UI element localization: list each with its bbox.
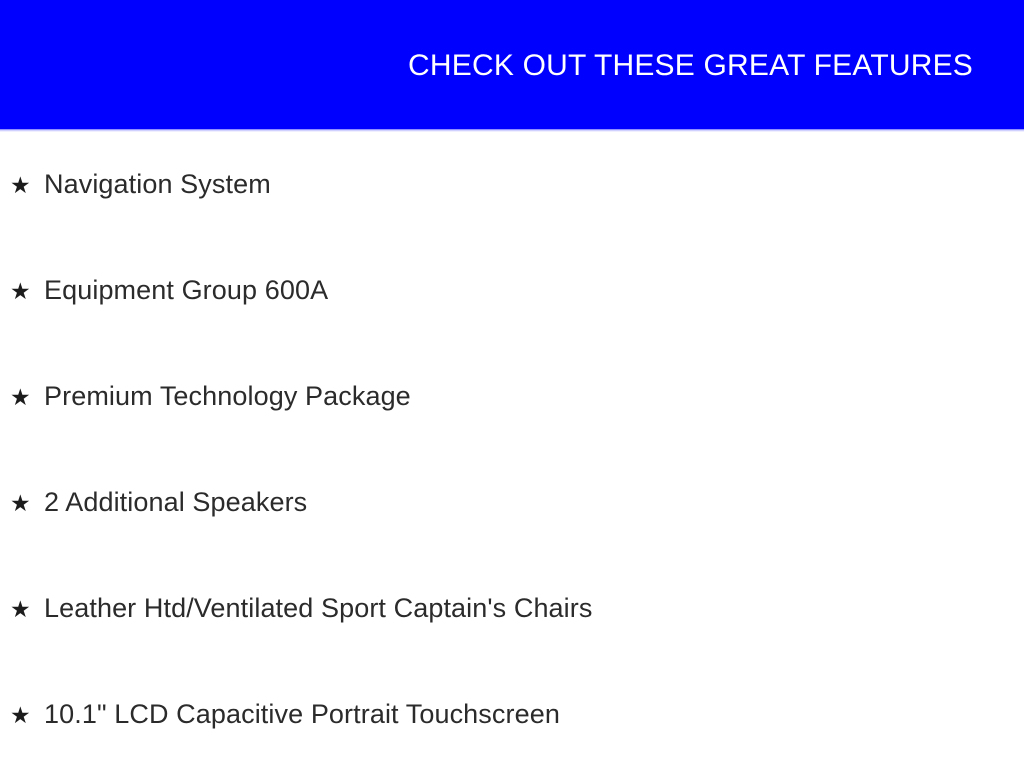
list-item: ★ Premium Technology Package <box>10 382 411 412</box>
list-item: ★ Navigation System <box>10 170 271 200</box>
star-icon: ★ <box>10 280 44 303</box>
star-icon: ★ <box>10 704 44 727</box>
page-title: CHECK OUT THESE GREAT FEATURES <box>408 51 973 81</box>
feature-label: Premium Technology Package <box>44 382 411 412</box>
star-icon: ★ <box>10 492 44 515</box>
list-item: ★ Leather Htd/Ventilated Sport Captain's… <box>10 594 592 624</box>
feature-label: Navigation System <box>44 170 271 200</box>
feature-label: Equipment Group 600A <box>44 276 328 306</box>
header-banner: CHECK OUT THESE GREAT FEATURES <box>0 0 1024 129</box>
feature-label: Leather Htd/Ventilated Sport Captain's C… <box>44 594 592 624</box>
feature-label: 10.1" LCD Capacitive Portrait Touchscree… <box>44 700 560 730</box>
star-icon: ★ <box>10 598 44 621</box>
star-icon: ★ <box>10 386 44 409</box>
feature-list-page: CHECK OUT THESE GREAT FEATURES ★ Navigat… <box>0 0 1024 768</box>
star-icon: ★ <box>10 174 44 197</box>
list-item: ★ 10.1" LCD Capacitive Portrait Touchscr… <box>10 700 560 730</box>
list-item: ★ 2 Additional Speakers <box>10 488 307 518</box>
list-item: ★ Equipment Group 600A <box>10 276 328 306</box>
feature-label: 2 Additional Speakers <box>44 488 307 518</box>
features-list: ★ Navigation System ★ Equipment Group 60… <box>0 132 1024 768</box>
